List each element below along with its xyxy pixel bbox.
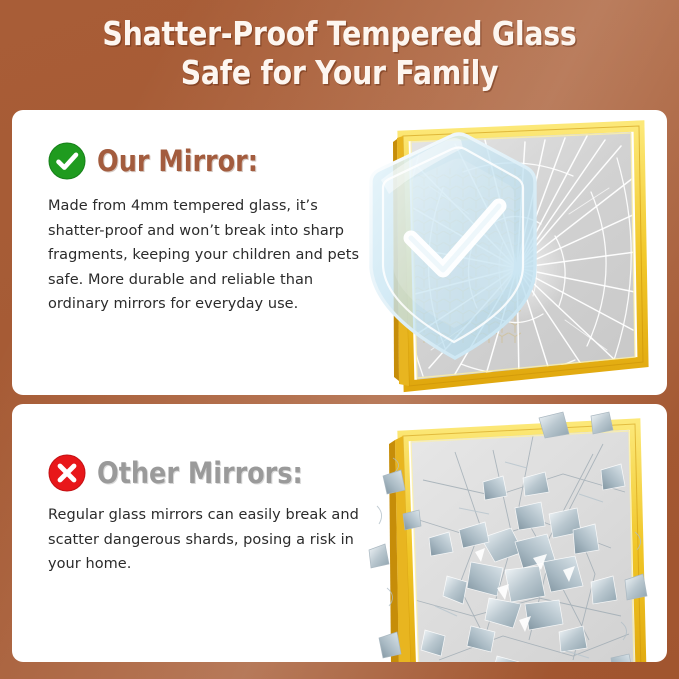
card-our-mirror: Our Mirror: Made from 4mm tempered glass… xyxy=(12,110,667,395)
card-other-mirrors-heading: Other Mirrors: xyxy=(97,458,303,488)
card-other-mirrors-content: Other Mirrors: Regular glass mirrors can… xyxy=(12,404,412,662)
page-header: Shatter-Proof Tempered Glass Safe for Yo… xyxy=(0,0,679,104)
page-title-line-1: Shatter-Proof Tempered Glass xyxy=(48,14,632,53)
card-our-mirror-header: Our Mirror: xyxy=(48,142,412,180)
red-cross-circle-icon xyxy=(48,454,86,492)
card-our-mirror-paragraph: Made from 4mm tempered glass, it’s shatt… xyxy=(48,194,368,317)
page-title-line-2: Safe for Your Family xyxy=(48,53,632,92)
card-other-mirrors-paragraph: Regular glass mirrors can easily break a… xyxy=(48,503,368,577)
card-other-mirrors-header: Other Mirrors: xyxy=(48,454,412,492)
card-our-mirror-heading: Our Mirror: xyxy=(97,146,258,176)
card-our-mirror-content: Our Mirror: Made from 4mm tempered glass… xyxy=(12,110,412,395)
infographic-page: Shatter-Proof Tempered Glass Safe for Yo… xyxy=(0,0,679,679)
card-other-mirrors: Other Mirrors: Regular glass mirrors can… xyxy=(12,404,667,662)
green-check-circle-icon xyxy=(48,142,86,180)
